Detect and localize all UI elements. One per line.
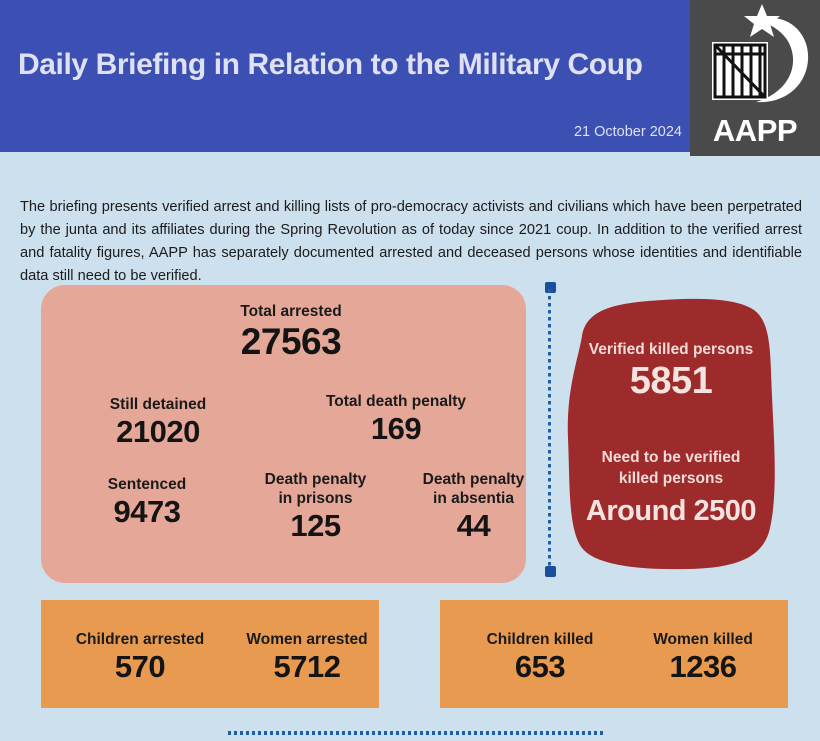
need-verified-value: Around 2500 [556, 494, 786, 528]
stat-label: Children killed [455, 630, 625, 649]
stat-label: Still detained [63, 395, 253, 414]
stat-children-arrested: Children arrested 570 [49, 630, 231, 685]
stat-women-killed: Women killed 1236 [620, 630, 786, 685]
stat-label-line1: Death penalty [233, 470, 398, 489]
stat-sentenced: Sentenced 9473 [57, 475, 237, 530]
stat-label-line1: Death penalty [391, 470, 556, 489]
stat-women-arrested: Women arrested 5712 [224, 630, 390, 685]
arrested-demographics-box: Children arrested 570 Women arrested 571… [41, 600, 379, 708]
stat-label: Women killed [620, 630, 786, 649]
stat-label: Sentenced [57, 475, 237, 494]
stat-death-penalty-in-absentia: Death penalty in absentia 44 [391, 470, 556, 544]
stat-value: 653 [455, 649, 625, 685]
stat-total-arrested: Total arrested 27563 [191, 302, 391, 363]
aapp-logo-text: AAPP [690, 113, 820, 149]
aapp-logo-panel: AAPP [690, 0, 820, 156]
stat-label-line2: in absentia [391, 489, 556, 508]
intro-paragraph: The briefing presents verified arrest an… [20, 196, 802, 288]
verified-killed-value: 5851 [556, 359, 786, 403]
need-verified-label-line1: Need to be verified [556, 447, 786, 468]
divider-dots [548, 289, 551, 570]
killed-demographics-box: Children killed 653 Women killed 1236 [440, 600, 788, 708]
briefing-date: 21 October 2024 [574, 124, 682, 140]
stat-label: Total arrested [191, 302, 391, 321]
stat-total-death-penalty: Total death penalty 169 [286, 392, 506, 447]
stat-value: 125 [233, 508, 398, 544]
arrest-statistics-panel: Total arrested 27563 Still detained 2102… [41, 285, 526, 583]
stat-children-killed: Children killed 653 [455, 630, 625, 685]
stat-still-detained: Still detained 21020 [63, 395, 253, 450]
verified-killed-label: Verified killed persons [556, 339, 786, 360]
page-title: Daily Briefing in Relation to the Milita… [18, 48, 643, 82]
stat-value: 570 [49, 649, 231, 685]
divider-cap-bottom [545, 566, 556, 577]
stat-death-penalty-in-prisons: Death penalty in prisons 125 [233, 470, 398, 544]
stat-label: Children arrested [49, 630, 231, 649]
stat-label: Women arrested [224, 630, 390, 649]
need-verified-label-line2: killed persons [556, 468, 786, 489]
stat-label: Total death penalty [286, 392, 506, 411]
stat-label-line2: in prisons [233, 489, 398, 508]
bottom-dotted-divider [228, 731, 606, 735]
stat-value: 9473 [57, 494, 237, 530]
stat-value: 1236 [620, 649, 786, 685]
stat-value: 27563 [191, 321, 391, 363]
stat-value: 21020 [63, 414, 253, 450]
stat-value: 169 [286, 411, 506, 447]
vertical-dotted-divider [545, 282, 555, 577]
page-header: Daily Briefing in Relation to the Milita… [0, 0, 820, 156]
stat-value: 5712 [224, 649, 390, 685]
killed-statistics-panel: Verified killed persons 5851 Need to be … [556, 296, 786, 571]
stat-value: 44 [391, 508, 556, 544]
crescent-star-prison-bars-icon [690, 2, 820, 110]
